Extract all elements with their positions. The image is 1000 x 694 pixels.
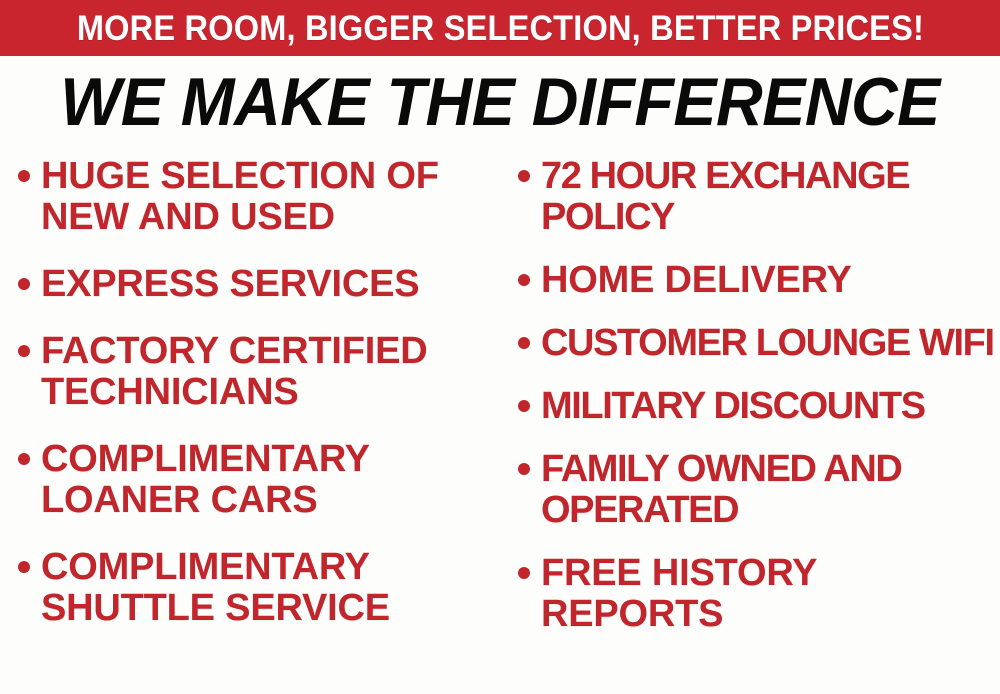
list-item-label: HUGE SELECTION OF NEW AND USED <box>41 156 496 238</box>
benefits-right-column: 72 HOUR EXCHANGE POLICY HOME DELIVERY CU… <box>500 156 1000 657</box>
list-item-label: 72 HOUR EXCHANGE POLICY <box>541 156 998 238</box>
benefits-columns: HUGE SELECTION OF NEW AND USED EXPRESS S… <box>0 156 1000 694</box>
bullet-dot-icon <box>518 400 530 412</box>
bullet-dot-icon <box>518 337 530 349</box>
list-item: CUSTOMER LOUNGE WIFI <box>518 323 998 364</box>
list-item-label: FACTORY CERTIFIED TECHNICIANS <box>41 331 496 413</box>
list-item-label: FREE HISTORY REPORTS <box>541 553 998 635</box>
list-item: 72 HOUR EXCHANGE POLICY <box>518 156 998 238</box>
list-item-label: CUSTOMER LOUNGE WIFI <box>541 323 998 364</box>
list-item-label: COMPLIMENTARY SHUTTLE SERVICE <box>41 547 496 629</box>
list-item: COMPLIMENTARY LOANER CARS <box>18 439 496 521</box>
bullet-dot-icon <box>18 561 30 573</box>
list-item: FACTORY CERTIFIED TECHNICIANS <box>18 331 496 413</box>
bullet-dot-icon <box>518 567 530 579</box>
bullet-dot-icon <box>18 453 30 465</box>
list-item: HOME DELIVERY <box>518 260 998 301</box>
bullet-dot-icon <box>518 463 530 475</box>
bullet-dot-icon <box>18 170 30 182</box>
list-item: FREE HISTORY REPORTS <box>518 553 998 635</box>
page-title: WE MAKE THE DIFFERENCE <box>25 64 975 140</box>
list-item-label: FAMILY OWNED AND OPERATED <box>541 449 998 531</box>
list-item: EXPRESS SERVICES <box>18 264 496 305</box>
list-item: FAMILY OWNED AND OPERATED <box>518 449 998 531</box>
bullet-dot-icon <box>518 274 530 286</box>
list-item: COMPLIMENTARY SHUTTLE SERVICE <box>18 547 496 629</box>
list-item-label: COMPLIMENTARY LOANER CARS <box>41 439 496 521</box>
list-item: MILITARY DISCOUNTS <box>518 386 998 427</box>
bullet-dot-icon <box>18 278 30 290</box>
list-item-label: EXPRESS SERVICES <box>41 264 496 305</box>
benefits-left-column: HUGE SELECTION OF NEW AND USED EXPRESS S… <box>0 156 500 655</box>
bullet-dot-icon <box>18 345 30 357</box>
list-item-label: HOME DELIVERY <box>541 260 998 301</box>
top-banner: MORE ROOM, BIGGER SELECTION, BETTER PRIC… <box>0 0 1000 56</box>
banner-headline-text: MORE ROOM, BIGGER SELECTION, BETTER PRIC… <box>76 11 923 46</box>
bullet-dot-icon <box>518 170 530 182</box>
list-item-label: MILITARY DISCOUNTS <box>541 386 998 427</box>
promo-poster: MORE ROOM, BIGGER SELECTION, BETTER PRIC… <box>0 0 1000 694</box>
list-item: HUGE SELECTION OF NEW AND USED <box>18 156 496 238</box>
